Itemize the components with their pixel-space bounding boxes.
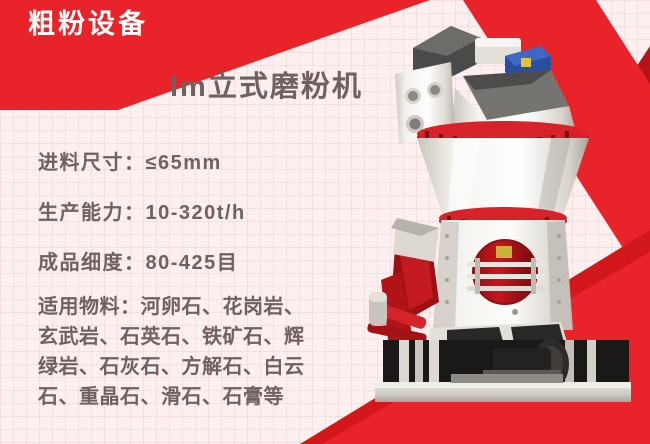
spec-row-fineness: 成品细度：80-425目 bbox=[38, 238, 246, 288]
vertical-mill-machine-photo bbox=[355, 10, 650, 410]
category-tag-label: 粗粉设备 bbox=[28, 8, 148, 40]
materials-line-2: 玄武岩、石英石、铁矿石、辉 bbox=[38, 322, 343, 352]
spec-row-feed-size: 进料尺寸：≤65mm bbox=[38, 138, 246, 188]
applicable-materials-block: 适用物料：河卵石、花岗岩、 玄武岩、石英石、铁矿石、辉 绿岩、石灰石、方解石、白… bbox=[38, 292, 343, 412]
spec-row-capacity: 生产能力：10-320t/h bbox=[38, 188, 246, 238]
spec-list: 进料尺寸：≤65mm 生产能力：10-320t/h 成品细度：80-425目 bbox=[38, 138, 246, 288]
machine-main-body bbox=[433, 220, 573, 330]
materials-line-4: 石、重晶石、滑石、石膏等 bbox=[38, 382, 343, 412]
product-promo-banner: 粗粉设备 lm立式磨粉机 进料尺寸：≤65mm 生产能力：10-320t/h 成… bbox=[0, 0, 650, 444]
materials-line-1: 适用物料：河卵石、花岗岩、 bbox=[38, 292, 343, 322]
machine-base-frame bbox=[375, 339, 631, 402]
page-title: lm立式磨粉机 bbox=[170, 63, 363, 105]
materials-line-3: 绿岩、石灰石、方解石、白云 bbox=[38, 352, 343, 382]
